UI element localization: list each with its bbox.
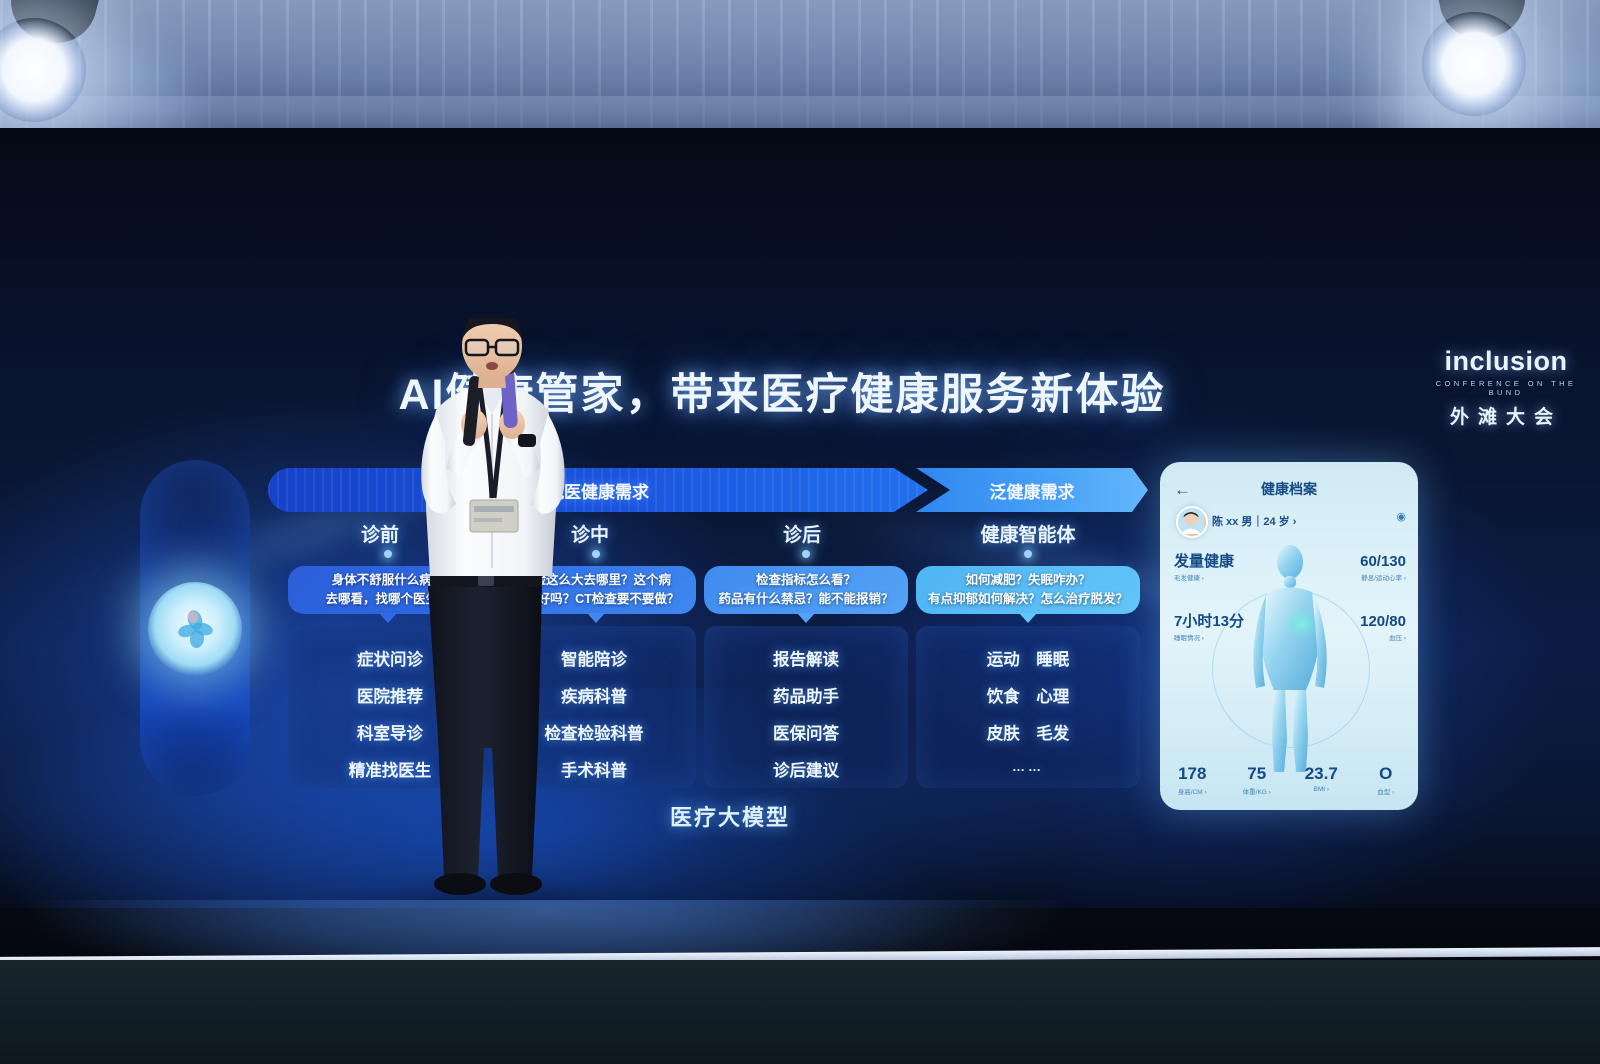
metric-label: 静息/运动心率 ›	[1360, 572, 1406, 582]
inclusion-logo: inclusion CONFERENCE ON THE BUND 外滩大会	[1418, 348, 1594, 429]
question-box-health-agent: 如何减肥？失眠咋办？ 有点抑郁如何解决？怎么治疗脱发？	[916, 566, 1140, 614]
stat-bmi[interactable]: 23.7 BMI ›	[1289, 765, 1354, 796]
medical-model-label: 医疗大模型	[560, 800, 900, 832]
eye-icon[interactable]: ◉	[1396, 510, 1406, 523]
ai-orb-icon	[148, 582, 242, 676]
column-head-health-agent: 健康智能体	[918, 520, 1138, 547]
logo-tagline: CONFERENCE ON THE BUND	[1418, 379, 1594, 397]
connector-dot-icon	[802, 550, 810, 558]
stage-apron	[0, 960, 1600, 1064]
stat-value: 23.7	[1289, 765, 1354, 782]
metric-sleep[interactable]: 7小时13分 睡眠情况 ›	[1174, 614, 1244, 642]
speaker-presenter	[392, 318, 592, 918]
flow-label-wellness: 泛健康需求	[990, 478, 1075, 503]
stat-height[interactable]: 178 身高/CM ›	[1160, 765, 1225, 796]
phone-screen-title: 健康档案	[1160, 479, 1418, 499]
question-box-postdiagnosis: 检查指标怎么看？ 药品有什么禁忌？能不能报销？	[704, 566, 908, 614]
list-item: 运动 睡眠	[916, 646, 1140, 670]
flow-segment-wellness: 泛健康需求	[916, 468, 1148, 512]
question-text-health-agent: 如何减肥？失眠咋办？ 有点抑郁如何解决？怎么治疗脱发？	[928, 571, 1128, 610]
metric-hair-health[interactable]: 发量健康 毛发健康 ›	[1174, 554, 1234, 582]
stat-value: 75	[1225, 765, 1290, 782]
stat-label: 体重/KG ›	[1225, 786, 1290, 796]
list-item: 皮肤 毛发	[916, 720, 1140, 744]
stat-blood-type[interactable]: O 血型 ›	[1354, 765, 1419, 796]
column-head-postdiagnosis: 诊后	[712, 520, 892, 547]
stat-value: O	[1354, 765, 1419, 782]
metric-heart-rate[interactable]: 60/130 静息/运动心率 ›	[1360, 554, 1406, 582]
metric-value: 120/80	[1360, 614, 1406, 629]
metric-label: 睡眠情况 ›	[1174, 632, 1244, 642]
stat-label: 身高/CM ›	[1160, 786, 1225, 796]
list-item: 药品助手	[704, 683, 908, 707]
metric-blood-pressure[interactable]: 120/80 血压 ›	[1360, 614, 1406, 642]
conference-stage-photo: AI健康管家，带来医疗健康服务新体验 inclusion CONFERENCE …	[0, 0, 1600, 1064]
stat-label: BMI ›	[1289, 786, 1354, 793]
patient-identity[interactable]: 陈 xx 男｜24 岁 ›	[1212, 513, 1296, 529]
connector-dot-icon	[384, 550, 392, 558]
list-item: 饮食 心理	[916, 683, 1140, 707]
avatar	[1176, 506, 1208, 538]
human-body-figure	[1238, 540, 1342, 776]
flow-segment-clinical: 就医健康需求	[268, 468, 928, 512]
metric-label: 毛发健康 ›	[1174, 572, 1234, 582]
question-text-postdiagnosis: 检查指标怎么看？ 药品有什么禁忌？能不能报销？	[718, 571, 893, 610]
stat-value: 178	[1160, 765, 1225, 782]
connector-dot-icon	[1024, 550, 1032, 558]
presentation-slide: AI健康管家，带来医疗健康服务新体验 inclusion CONFERENCE …	[0, 128, 1600, 848]
stat-weight[interactable]: 75 体重/KG ›	[1225, 765, 1290, 796]
list-item: 医保问答	[704, 720, 908, 744]
logo-chinese-name: 外滩大会	[1418, 402, 1594, 429]
body-stats-row: 178 身高/CM › 75 体重/KG › 23.7 BMI › O 血型 ›	[1160, 765, 1418, 796]
stat-label: 血型 ›	[1354, 786, 1419, 796]
health-record-phone-mockup: ← 健康档案 ◉ 陈 xx 男｜24 岁 ›	[1160, 462, 1418, 810]
list-item: 报告解读	[704, 646, 908, 670]
metric-value: 60/130	[1360, 554, 1406, 569]
metric-value: 7小时13分	[1174, 614, 1244, 629]
metric-value: 发量健康	[1174, 554, 1234, 569]
spotlight-right	[1422, 12, 1526, 116]
logo-wordmark: inclusion	[1418, 348, 1594, 375]
connector-dot-icon	[592, 550, 600, 558]
list-item: 诊后建议	[704, 757, 908, 781]
ai-assistant-badge	[140, 460, 250, 796]
metric-label: 血压 ›	[1360, 632, 1406, 642]
list-item: ……	[916, 759, 1140, 774]
